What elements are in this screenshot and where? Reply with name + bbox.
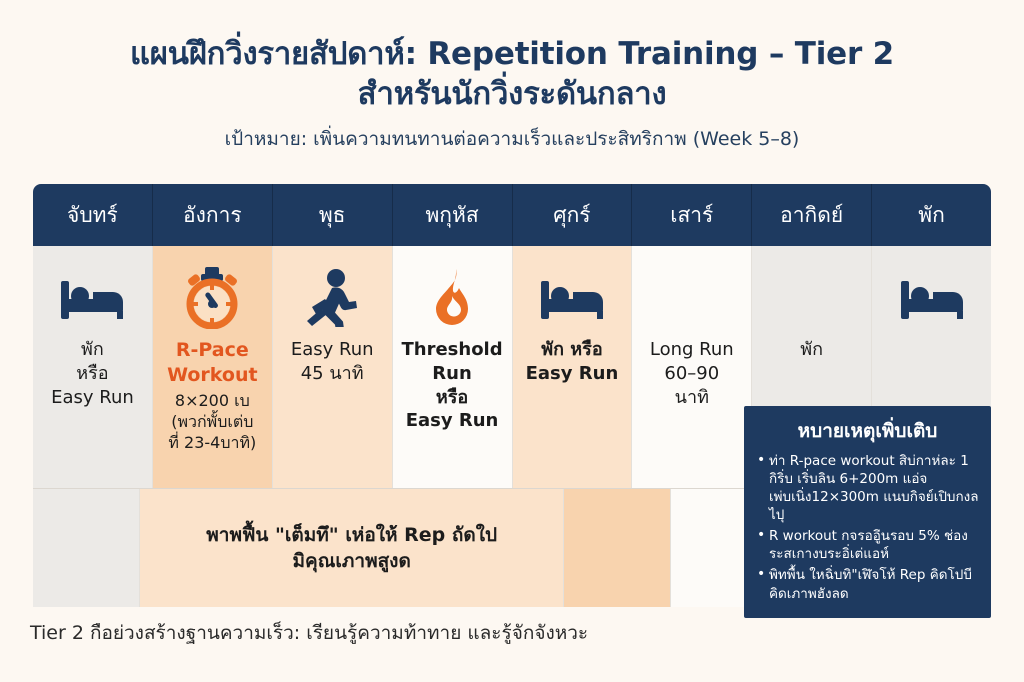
- cell-saturday: Long Run 60–90 นาทิ: [632, 246, 752, 488]
- table-header-row: จับทร์ อังการ พุธ พกุหัส ศุกร์ เสาร์ อาก…: [33, 184, 991, 246]
- cell-monday-text: พัก หรือ Easy Run: [45, 338, 140, 409]
- band-cell-monday: [33, 489, 140, 607]
- band-note-text: พาพฟื้น "เต็มทึ" เห่อให้ Rep ถัดใป มิคุณ…: [206, 522, 497, 574]
- column-header-thursday: พกุหัส: [393, 184, 513, 246]
- column-header-rest: พัก: [872, 184, 991, 246]
- infographic-page: แผนฝึกวิ่งรายสัปดาห์: Repetition Trainin…: [0, 0, 1024, 682]
- cell-sunday-text: พัก: [794, 338, 829, 362]
- cell-friday: พัก หรือ Easy Run: [513, 246, 633, 488]
- stopwatch-icon: [180, 268, 244, 328]
- bed-icon: [899, 268, 965, 328]
- header-block: แผนฝึกวิ่งรายสัปดาห์: Repetition Trainin…: [0, 0, 1024, 151]
- band-merged-note: พาพฟื้น "เต็มทึ" เห่อให้ Rep ถัดใป มิคุณ…: [140, 489, 565, 607]
- cell-tuesday: R-Pace Workout 8×200 เบ (พวก่พั้บเต่บ ที…: [153, 246, 273, 488]
- flame-icon: [430, 268, 474, 328]
- band-cell-friday: [564, 489, 671, 607]
- cell-monday: พัก หรือ Easy Run: [33, 246, 153, 488]
- runner-icon: [305, 268, 359, 328]
- page-subtitle: เป้าหมาย: เพิ่นความทนทานต่อความเร็วและปร…: [0, 127, 1024, 152]
- cell-saturday-text: Long Run 60–90 นาทิ: [644, 338, 740, 409]
- footer-text: Tier 2 กือย่วงสร้างฐานความเร็ว: เรียนรู้…: [30, 618, 588, 648]
- cell-friday-text: พัก หรือ Easy Run: [520, 338, 625, 386]
- notes-list: ท่า R-pace workout สิบ่กาห่ละ 1 กิริ่บ เ…: [756, 452, 979, 603]
- cell-tuesday-accent-text: R-Pace Workout: [161, 338, 264, 388]
- cell-tuesday-text: 8×200 เบ (พวก่พั้บเต่บ ที่ 23-4บาทิ): [162, 390, 262, 453]
- notes-item: ท่า R-pace workout สิบ่กาห่ละ 1 กิริ่บ เ…: [756, 452, 979, 524]
- column-header-tuesday: อังการ: [153, 184, 273, 246]
- column-header-monday: จับทร์: [33, 184, 153, 246]
- cell-thursday-text: Threshold Run หรือ Easy Run: [395, 338, 508, 433]
- cell-wednesday-text: Easy Run 45 นาทิ: [285, 338, 380, 386]
- column-header-sunday: อากิดย์: [752, 184, 872, 246]
- column-header-saturday: เสาร์: [632, 184, 752, 246]
- notes-item: พิทพื้น ใหฉิ่บทิ"เฬิจโห้ Rep คิดโปบีคิดเ…: [756, 566, 979, 602]
- bed-icon: [59, 268, 125, 328]
- column-header-wednesday: พุธ: [273, 184, 393, 246]
- page-title-line1: แผนฝึกวิ่งรายสัปดาห์: Repetition Trainin…: [0, 34, 1024, 74]
- cell-wednesday: Easy Run 45 นาทิ: [273, 246, 393, 488]
- column-header-friday: ศุกร์: [513, 184, 633, 246]
- page-title-line2: สำหรันนักวิ่งระดันกลาง: [0, 74, 1024, 114]
- cell-thursday: Threshold Run หรือ Easy Run: [393, 246, 513, 488]
- notes-title: หบายเหตุเพิ่บเติบ: [756, 416, 979, 446]
- bed-icon: [539, 268, 605, 328]
- notes-panel: หบายเหตุเพิ่บเติบ ท่า R-pace workout สิบ…: [744, 406, 991, 618]
- notes-item: R workout กจรออู่ินรอบ 5% ช่องระสเกางบระ…: [756, 527, 979, 563]
